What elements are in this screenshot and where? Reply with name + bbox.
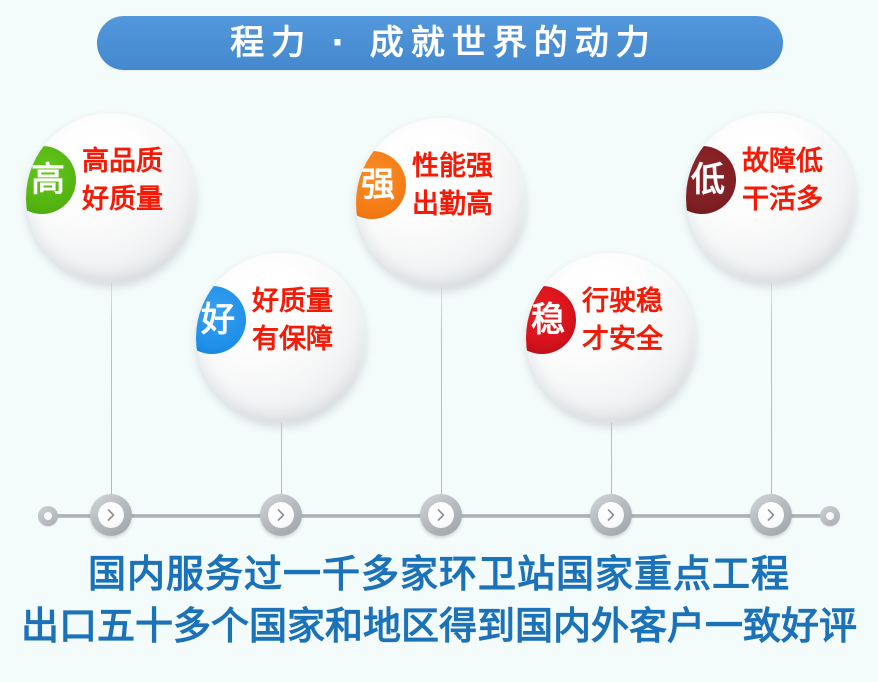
footer-line-1: 国内服务过一千多家环卫站国家重点工程: [0, 548, 878, 600]
balloon-stem-2: [441, 275, 442, 498]
balloon-text-2: 性能强 出勤高: [412, 148, 524, 224]
timeline-node-0[interactable]: [90, 494, 132, 536]
balloon-text-line-1: 行驶稳: [582, 283, 694, 321]
balloon-text-line-1: 高品质: [82, 143, 194, 181]
chevron-right-icon: [598, 502, 624, 528]
chevron-right-icon: [268, 502, 294, 528]
feature-balloon-good-quality[interactable]: 好 好质量 有保障: [196, 253, 366, 423]
header-banner: 程力 · 成就世界的动力: [97, 16, 783, 70]
balloon-text-0: 高品质 好质量: [82, 143, 194, 219]
balloon-text-line-2: 有保障: [252, 321, 364, 359]
balloon-text-line-2: 才安全: [582, 321, 694, 359]
balloon-text-line-1: 好质量: [252, 283, 364, 321]
footer: 国内服务过一千多家环卫站国家重点工程 出口五十多个国家和地区得到国内外客户一致好…: [0, 548, 878, 652]
feature-balloon-low-failure[interactable]: 低 故障低 干活多: [686, 113, 856, 283]
balloon-text-line-2: 干活多: [742, 181, 854, 219]
balloon-stem-0: [111, 270, 112, 498]
feature-balloon-stable-driving[interactable]: 稳 行驶稳 才安全: [526, 253, 696, 423]
chevron-right-icon: [758, 502, 784, 528]
balloon-text-1: 好质量 有保障: [252, 283, 364, 359]
timeline-node-4[interactable]: [750, 494, 792, 536]
timeline-node-3[interactable]: [590, 494, 632, 536]
timeline: [0, 495, 878, 539]
balloon-badge-2: 强: [356, 151, 406, 219]
balloon-badge-0: 高: [26, 146, 76, 214]
balloon-stem-4: [771, 270, 772, 498]
balloon-text-line-1: 故障低: [742, 143, 854, 181]
chevron-right-icon: [98, 502, 124, 528]
chevron-right-icon: [428, 502, 454, 528]
balloon-text-line-2: 好质量: [82, 181, 194, 219]
timeline-node-2[interactable]: [420, 494, 462, 536]
balloon-badge-4: 低: [686, 146, 736, 214]
timeline-end-cap-left-ring-icon: [38, 506, 58, 526]
header-banner-title: 程力 · 成就世界的动力: [223, 26, 657, 60]
balloon-badge-3: 稳: [526, 286, 576, 354]
footer-line-2: 出口五十多个国家和地区得到国内外客户一致好评: [0, 600, 878, 652]
feature-balloon-high-quality[interactable]: 高 高品质 好质量: [26, 113, 196, 283]
balloon-stem-3: [611, 410, 612, 498]
feature-balloon-strong-performance[interactable]: 强 性能强 出勤高: [356, 118, 526, 288]
balloon-stem-1: [281, 410, 282, 498]
balloon-text-line-1: 性能强: [412, 148, 524, 186]
balloon-badge-1: 好: [196, 286, 246, 354]
balloon-text-3: 行驶稳 才安全: [582, 283, 694, 359]
timeline-end-cap-right-ring-icon: [820, 506, 840, 526]
balloon-text-4: 故障低 干活多: [742, 143, 854, 219]
timeline-node-1[interactable]: [260, 494, 302, 536]
balloon-text-line-2: 出勤高: [412, 186, 524, 224]
